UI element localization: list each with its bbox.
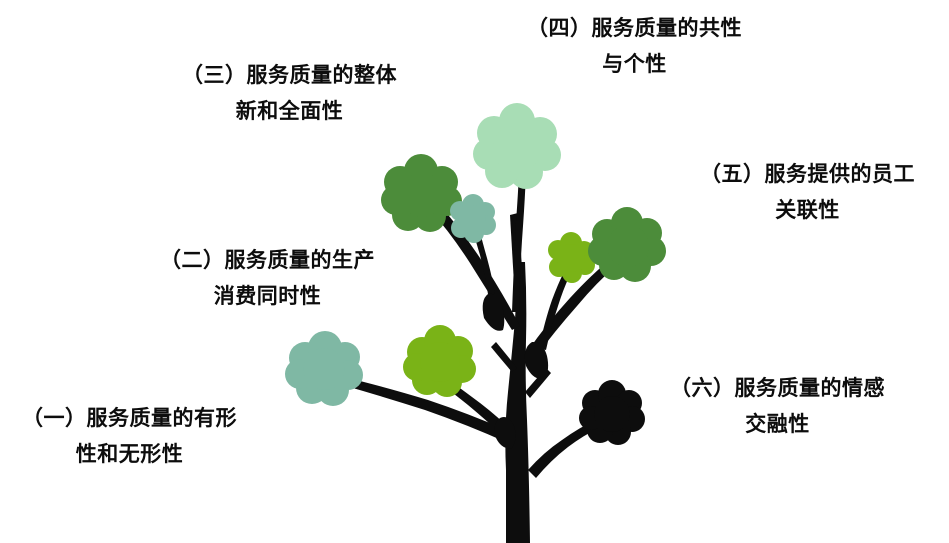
label-item-one: （一）服务质量的有形 性和无形性	[22, 401, 237, 473]
blob-lower-right-black	[579, 380, 645, 445]
label-item-five-line1: （五）服务提供的员工	[700, 157, 915, 193]
label-item-six-line2: 交融性	[670, 407, 885, 443]
label-item-four-line2: 与个性	[527, 47, 742, 83]
label-item-three-line2: 新和全面性	[182, 94, 397, 130]
blob-right-lime	[548, 232, 595, 283]
slide-canvas: （一）服务质量的有形 性和无形性 （二）服务质量的生产 消费同时性 （三）服务质…	[0, 0, 949, 543]
label-item-two: （二）服务质量的生产 消费同时性	[160, 243, 375, 315]
label-item-six: （六）服务质量的情感 交融性	[670, 371, 885, 443]
label-item-one-line1: （一）服务质量的有形	[22, 401, 237, 437]
label-item-five: （五）服务提供的员工 关联性	[700, 157, 915, 229]
label-item-one-line2: 性和无形性	[22, 437, 237, 473]
label-item-three: （三）服务质量的整体 新和全面性	[182, 58, 397, 130]
label-item-three-line1: （三）服务质量的整体	[182, 58, 397, 94]
blob-left-teal	[285, 331, 363, 406]
blob-top-mint	[473, 103, 561, 189]
label-item-two-line2: 消费同时性	[160, 279, 375, 315]
label-item-two-line1: （二）服务质量的生产	[160, 243, 375, 279]
label-item-six-line1: （六）服务质量的情感	[670, 371, 885, 407]
blob-left-lime	[403, 325, 476, 397]
label-item-four-line1: （四）服务质量的共性	[527, 11, 742, 47]
label-item-four: （四）服务质量的共性 与个性	[527, 11, 742, 83]
label-item-five-line2: 关联性	[700, 193, 915, 229]
